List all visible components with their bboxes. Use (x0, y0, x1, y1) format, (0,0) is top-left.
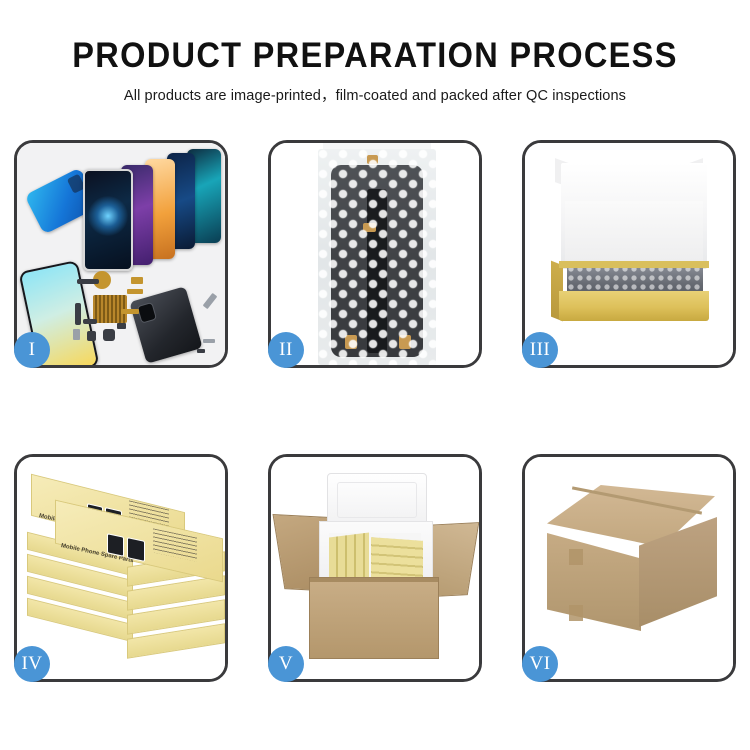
process-step-panel-1[interactable]: I (14, 140, 228, 368)
step-badge-3: III (522, 332, 558, 368)
page-header: PRODUCT PREPARATION PROCESS All products… (0, 0, 750, 105)
step-6-image (525, 457, 733, 679)
process-step-panel-3[interactable]: III (522, 140, 736, 368)
spare-part-screw-1 (203, 339, 215, 343)
spare-part-misc-1 (117, 323, 126, 329)
step-badge-5: V (268, 646, 304, 682)
step-1-image (17, 143, 225, 365)
step-badge-4: IV (14, 646, 50, 682)
page-title: PRODUCT PREPARATION PROCESS (26, 38, 724, 75)
process-step-panel-2[interactable]: II (268, 140, 482, 368)
process-step-panel-6[interactable]: VI (522, 454, 736, 682)
step-2-image (271, 143, 479, 365)
step-badge-6: VI (522, 646, 558, 682)
step-badge-2: II (268, 332, 304, 368)
box-rim (559, 261, 709, 268)
process-step-panel-4[interactable]: Mobile Phone Spare Parts Mobile Phone Sp… (14, 454, 228, 682)
process-step-grid: I II III (14, 140, 736, 690)
bubble-texture (318, 149, 436, 365)
process-step-panel-5[interactable]: V (268, 454, 482, 682)
step-5-image (271, 457, 479, 679)
step-4-image: Mobile Phone Spare Parts Mobile Phone Sp… (17, 457, 225, 679)
spare-part-screw-2 (197, 349, 205, 353)
carton-tape-upper (569, 549, 583, 565)
tempered-glass-screen (83, 169, 133, 271)
spare-part-flex-2 (83, 319, 97, 324)
foam-box-lid (327, 473, 427, 527)
box-swatch-front-1 (107, 533, 124, 557)
spare-part-flex-3 (121, 309, 139, 314)
spare-part-connector-1 (131, 277, 143, 284)
carton-body (309, 577, 439, 659)
spare-part-sim-tray (73, 329, 80, 340)
carton-tape-lower (569, 605, 583, 621)
step-badge-1: I (14, 332, 50, 368)
spare-part-camera (103, 329, 115, 341)
step-3-image (525, 143, 733, 365)
spare-part-bracket-1 (77, 279, 99, 284)
page-subtitle: All products are image-printed，film-coat… (11, 84, 739, 105)
box-swatch-front-2 (127, 537, 145, 562)
foam-lining (565, 201, 703, 267)
retail-boxes-left-group (329, 533, 369, 584)
box-front-kraft (559, 291, 709, 321)
spare-part-button (87, 331, 96, 341)
spare-part-flex-1 (75, 303, 81, 325)
spare-part-connector-2 (127, 289, 143, 294)
